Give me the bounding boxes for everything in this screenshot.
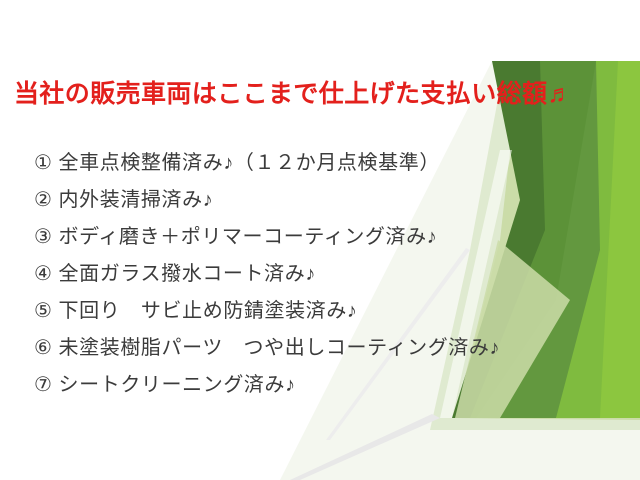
list-item-label: 未塗装樹脂パーツ つや出しコーティング済み♪: [59, 331, 501, 365]
list-item: ②内外装清掃済み♪: [34, 183, 634, 220]
list-item-marker: ⑥: [34, 331, 53, 365]
list-item-label: 下回り サビ止め防錆塗装済み♪: [59, 294, 358, 328]
feature-list: ①全車点検整備済み♪（１２か月点検基準） ②内外装清掃済み♪ ③ボディ磨き＋ポリ…: [34, 146, 634, 405]
list-item-marker: ⑦: [34, 368, 53, 402]
list-item-label: 内外装清掃済み♪: [59, 183, 214, 217]
list-item: ④全面ガラス撥水コート済み♪: [34, 257, 634, 294]
list-item-label: 全面ガラス撥水コート済み♪: [59, 257, 316, 291]
list-item: ①全車点検整備済み♪（１２か月点検基準）: [34, 146, 634, 183]
list-item-label: シートクリーニング済み♪: [59, 368, 296, 402]
list-item-marker: ⑤: [34, 294, 53, 328]
list-item-marker: ④: [34, 257, 53, 291]
list-item: ⑤下回り サビ止め防錆塗装済み♪: [34, 294, 634, 331]
list-item-marker: ②: [34, 183, 53, 217]
list-item-label: ボディ磨き＋ポリマーコーティング済み♪: [59, 220, 438, 254]
list-item: ⑦シートクリーニング済み♪: [34, 368, 634, 405]
list-item: ③ボディ磨き＋ポリマーコーティング済み♪: [34, 220, 634, 257]
list-item-label: 全車点検整備済み♪（１２か月点検基準）: [59, 146, 440, 180]
slide-canvas: 当社の販売車両はここまで仕上げた支払い総額♬ ①全車点検整備済み♪（１２か月点検…: [0, 0, 640, 480]
list-item: ⑥未塗装樹脂パーツ つや出しコーティング済み♪: [34, 331, 634, 368]
page-title: 当社の販売車両はここまで仕上げた支払い総額♬: [14, 79, 573, 109]
list-item-marker: ③: [34, 220, 53, 254]
list-item-marker: ①: [34, 146, 53, 180]
